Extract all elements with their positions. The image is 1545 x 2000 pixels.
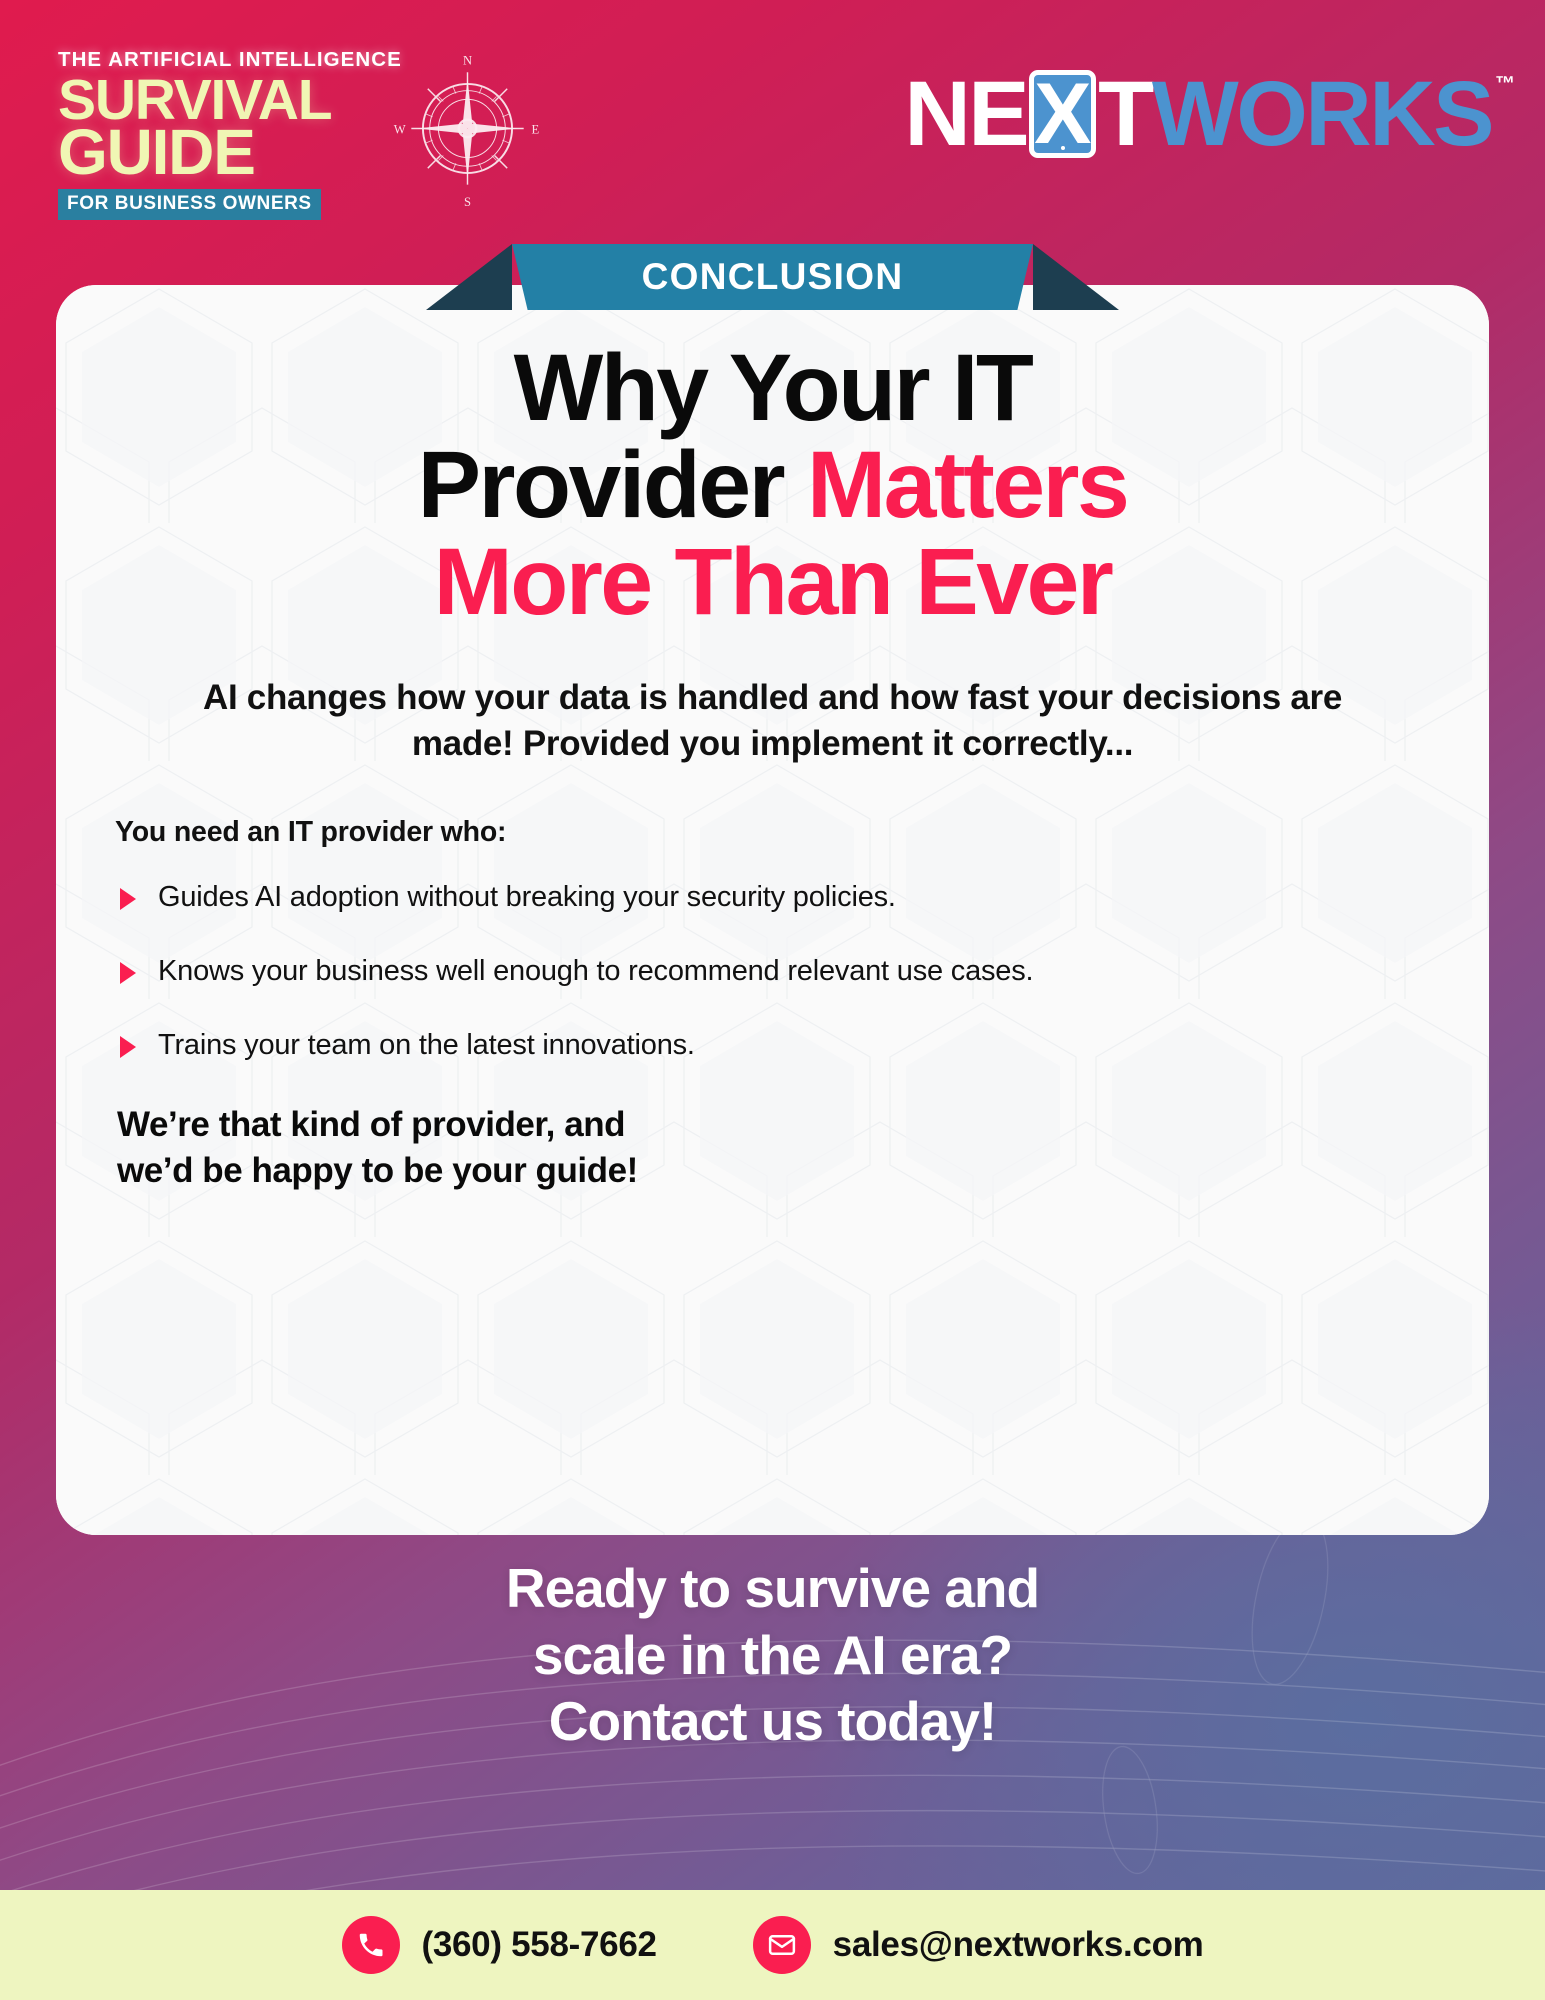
poster-page: THE ARTIFICIAL INTELLIGENCE SURVIVAL GUI… — [0, 0, 1545, 2000]
closing-statement: We’re that kind of provider, and we’d be… — [117, 1102, 1427, 1194]
logo-text-works: WORKS — [1152, 68, 1492, 160]
call-to-action: Ready to survive and scale in the AI era… — [0, 1555, 1545, 1755]
card-content: Why Your IT Provider Matters More Than E… — [56, 285, 1489, 1535]
nextworks-logo: NE X T WORKS ™ — [904, 68, 1515, 160]
compass-label-n: N — [463, 54, 472, 68]
headline-line2-black: Provider — [418, 432, 807, 538]
ribbon-label: CONCLUSION — [642, 256, 904, 298]
phone-number: (360) 558-7662 — [422, 1925, 657, 1965]
compass-label-e: E — [531, 122, 539, 136]
trademark-symbol: ™ — [1495, 74, 1515, 94]
headline-line2-pink: Matters — [807, 432, 1127, 538]
subheading-text: AI changes how your data is handled and … — [118, 675, 1427, 768]
ribbon-banner: CONCLUSION — [512, 244, 1033, 310]
cta-line-3: Contact us today! — [0, 1688, 1545, 1755]
contact-footer: (360) 558-7662 sales@nextworks.com — [0, 1890, 1545, 2000]
list-item: Knows your business well enough to recom… — [120, 953, 1427, 989]
survival-guide-logo: THE ARTIFICIAL INTELLIGENCE SURVIVAL GUI… — [58, 48, 368, 220]
logo-tablet-icon: X — [1029, 70, 1096, 158]
logo-text-ne: NE — [904, 68, 1027, 160]
phone-icon — [342, 1916, 400, 1974]
conclusion-ribbon: CONCLUSION — [0, 244, 1545, 310]
requirements-list: Guides AI adoption without breaking your… — [118, 879, 1427, 1064]
list-item: Trains your team on the latest innovatio… — [120, 1027, 1427, 1063]
email-address: sales@nextworks.com — [833, 1925, 1204, 1965]
contact-email[interactable]: sales@nextworks.com — [753, 1916, 1204, 1974]
headline-line-3: More Than Ever — [118, 534, 1427, 631]
cta-line-2: scale in the AI era? — [0, 1622, 1545, 1689]
envelope-icon — [753, 1916, 811, 1974]
closing-line-2: we’d be happy to be your guide! — [117, 1148, 1427, 1194]
list-item: Guides AI adoption without breaking your… — [120, 879, 1427, 915]
content-card: Why Your IT Provider Matters More Than E… — [56, 285, 1489, 1535]
logo-letter-x: X — [1034, 75, 1091, 153]
page-header: THE ARTIFICIAL INTELLIGENCE SURVIVAL GUI… — [0, 0, 1545, 270]
list-item-label: Knows your business well enough to recom… — [158, 953, 1033, 989]
cta-line-1: Ready to survive and — [0, 1555, 1545, 1622]
page-title: Why Your IT Provider Matters More Than E… — [118, 340, 1427, 631]
triangle-bullet-icon — [120, 962, 136, 984]
brand-subtitle: FOR BUSINESS OWNERS — [58, 189, 321, 220]
headline-line-1: Why Your IT — [118, 340, 1427, 437]
triangle-bullet-icon — [120, 888, 136, 910]
logo-text-t: T — [1098, 68, 1152, 160]
requirements-label: You need an IT provider who: — [115, 816, 1427, 849]
compass-label-s: S — [464, 195, 471, 209]
list-item-label: Trains your team on the latest innovatio… — [158, 1027, 695, 1063]
ribbon-tail-left — [426, 244, 512, 310]
triangle-bullet-icon — [120, 1036, 136, 1058]
compass-rose-icon: N E S W — [390, 45, 545, 210]
headline-line-2: Provider Matters — [118, 437, 1427, 534]
ribbon-tail-right — [1033, 244, 1119, 310]
tablet-home-dot — [1061, 146, 1065, 150]
list-item-label: Guides AI adoption without breaking your… — [158, 879, 896, 915]
compass-label-w: W — [394, 122, 406, 136]
closing-line-1: We’re that kind of provider, and — [117, 1102, 1427, 1148]
contact-phone[interactable]: (360) 558-7662 — [342, 1916, 657, 1974]
